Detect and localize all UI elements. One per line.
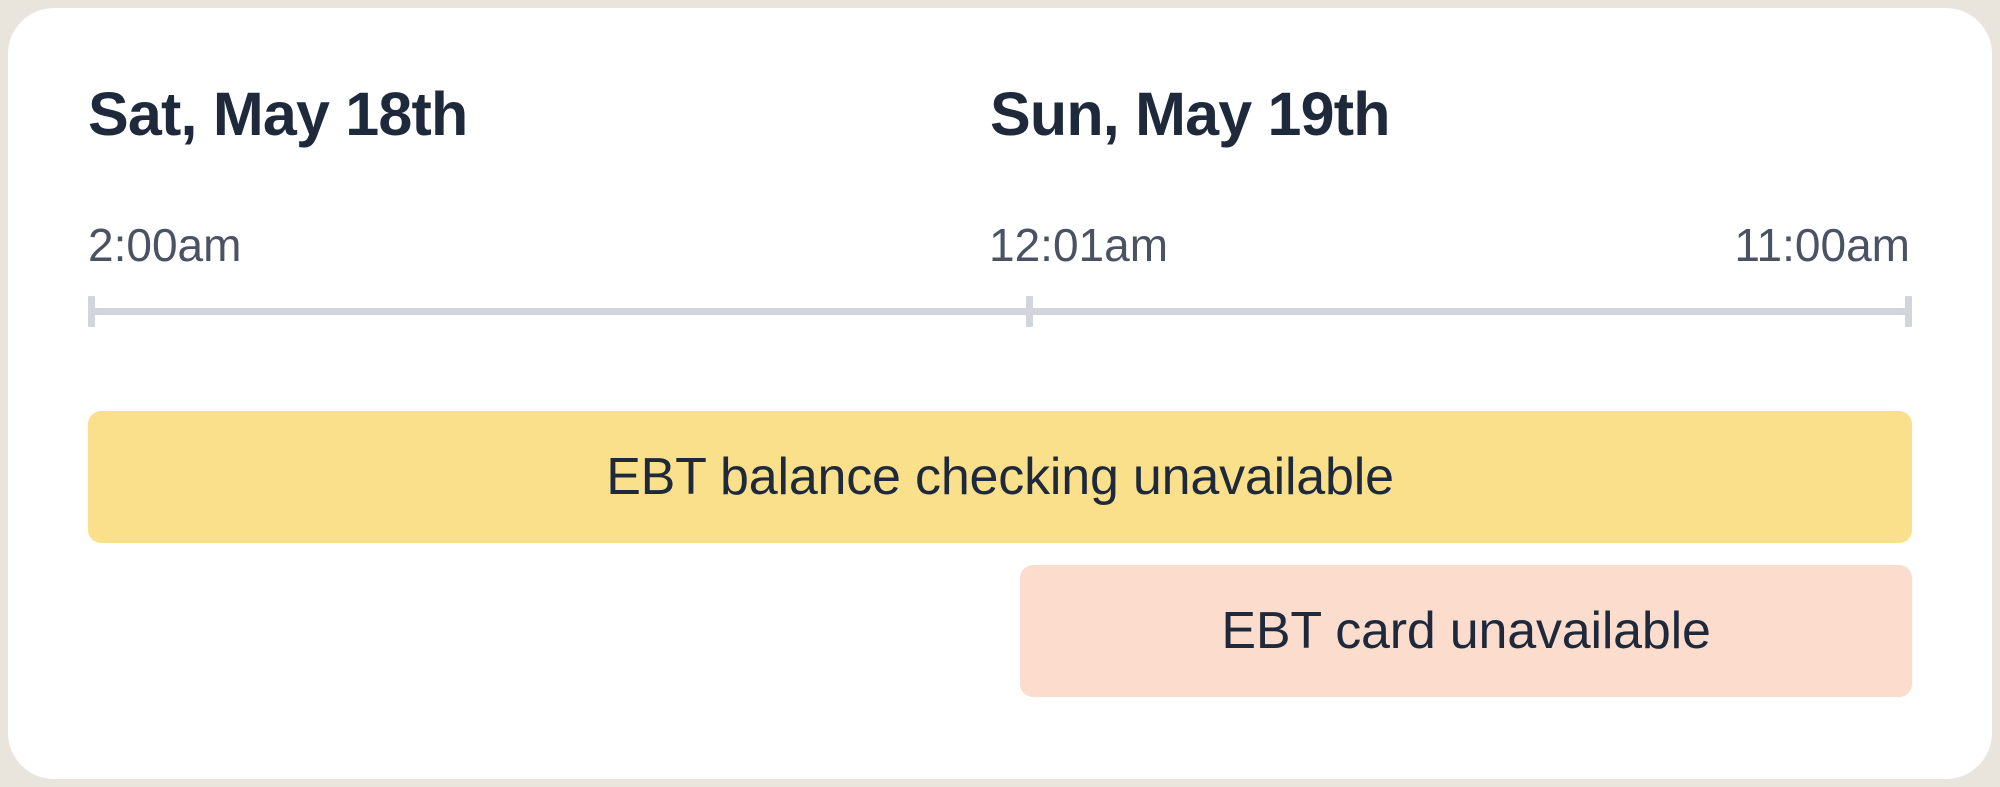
event-bar-label: EBT card unavailable: [1221, 605, 1710, 657]
event-bar-ebt-card: EBT card unavailable: [1020, 565, 1912, 697]
event-bar-ebt-balance-checking: EBT balance checking unavailable: [88, 411, 1912, 543]
event-bars: EBT balance checking unavailable EBT car…: [88, 8, 1912, 779]
event-bar-label: EBT balance checking unavailable: [606, 451, 1394, 503]
outage-timeline-card: Sat, May 18th Sun, May 19th 2:00am 12:01…: [8, 8, 1992, 779]
